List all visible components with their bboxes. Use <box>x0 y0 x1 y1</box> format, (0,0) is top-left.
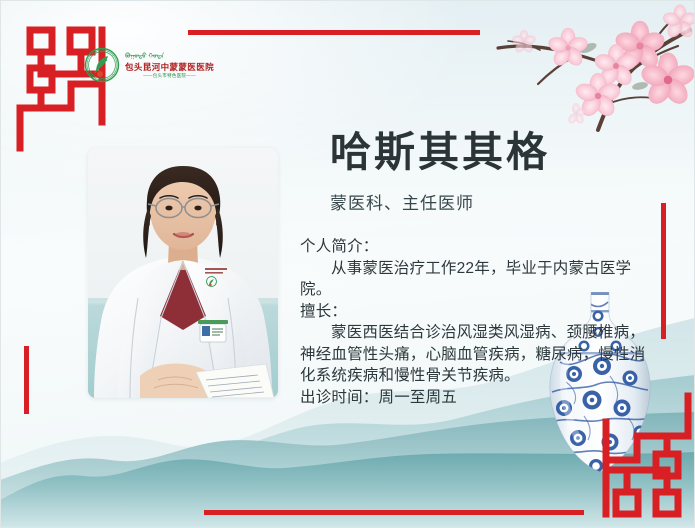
logo-chinese-name: 包头昆河中蒙蒙医医院 <box>125 62 214 72</box>
horizontal-red-rule-top <box>188 30 480 35</box>
bio-specialty-body: 蒙医西医结合诊治风湿类风湿病、颈腰椎病，神经血管性头痛，心脑血管疾病，糖尿病，慢… <box>300 322 646 387</box>
hospital-logo-text: ᠪᠤᠭᠤᠳᠤ ᠬᠣᠲᠠ 包头昆河中蒙蒙医医院 ——包头市特色医院—— <box>125 52 214 79</box>
vertical-red-tick-right <box>661 203 666 339</box>
horizontal-red-rule-bottom <box>204 510 584 515</box>
vertical-red-tick-left <box>24 346 29 414</box>
doctor-role: 蒙医科、主任医师 <box>330 192 630 216</box>
doctor-bio: 个人简介： 从事蒙医治疗工作22年，毕业于内蒙古医学院。 擅长： 蒙医西医结合诊… <box>300 236 646 408</box>
hospital-logo: ᠪᠤᠭᠤᠳᠤ ᠬᠣᠲᠠ 包头昆河中蒙蒙医医院 ——包头市特色医院—— <box>84 47 214 83</box>
logo-mongolian-script: ᠪᠤᠭᠤᠳᠤ ᠬᠣᠲᠠ <box>125 53 214 61</box>
bio-intro-body: 从事蒙医治疗工作22年，毕业于内蒙古医学院。 <box>300 258 646 301</box>
doctor-name: 哈斯其其格 <box>330 126 630 178</box>
bio-specialty-label: 擅长： <box>300 301 646 323</box>
doctor-portrait-photo <box>88 148 278 398</box>
logo-subtitle: ——包头市特色医院—— <box>125 73 214 79</box>
bio-clinic-hours: 出诊时间：周一至周五 <box>300 387 646 409</box>
doctor-profile-poster: ᠪᠤᠭᠤᠳᠤ ᠬᠣᠲᠠ 包头昆河中蒙蒙医医院 ——包头市特色医院—— <box>0 0 695 528</box>
hospital-seal-icon <box>84 47 120 83</box>
bio-intro-label: 个人简介： <box>300 236 646 258</box>
